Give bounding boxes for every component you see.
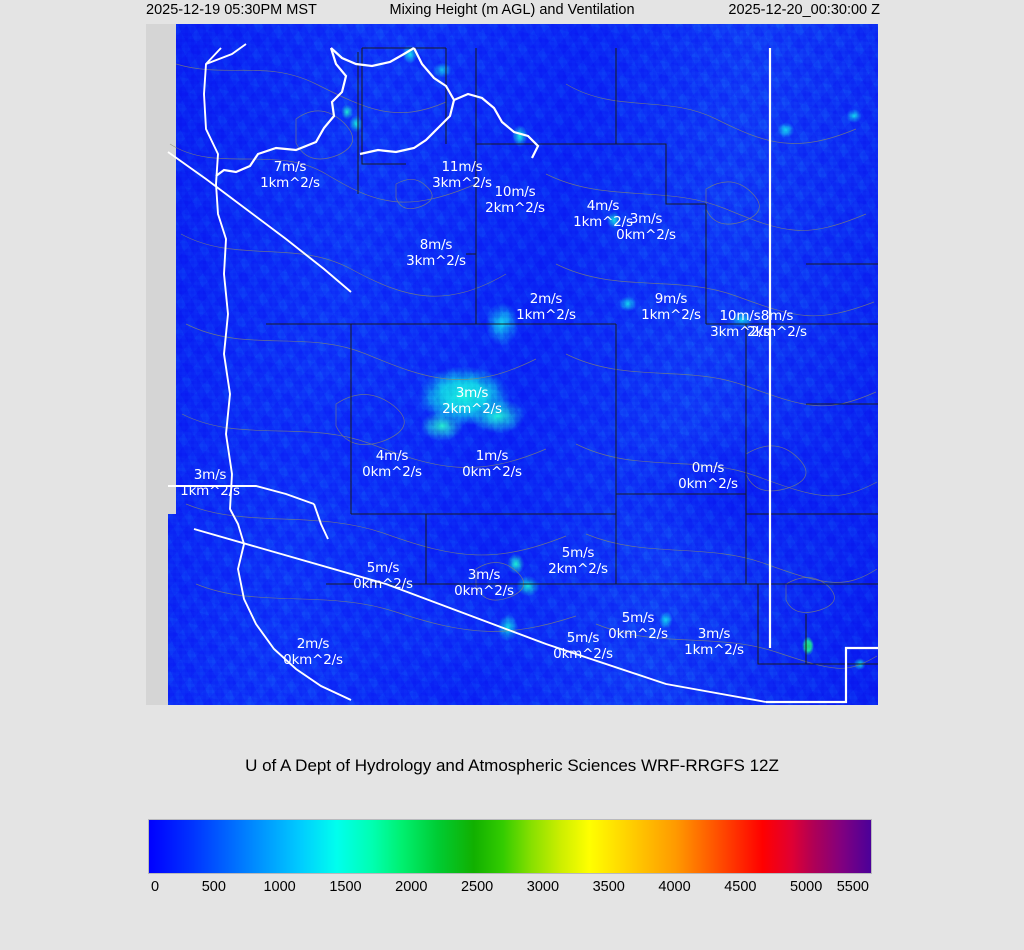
model-attribution: U of A Dept of Hydrology and Atmospheric… — [245, 756, 779, 776]
colorbar-tick: 3500 — [593, 879, 625, 895]
valid-time-utc: 2025-12-20_00:30:00 Z — [728, 0, 880, 20]
colorado-river — [216, 48, 538, 176]
border-outline — [766, 48, 878, 702]
state-border-and-rivers — [168, 44, 766, 702]
colorbar-tick-labels: 0500100015002000250030003500400045005000… — [148, 879, 872, 903]
header-bar: 2025-12-19 05:30PM MST Mixing Height (m … — [0, 0, 1024, 24]
mixing-height-map[interactable]: 7m/s1km^2/s11m/s3km^2/s10m/s2km^2/s8m/s3… — [146, 24, 878, 705]
county-borders — [266, 48, 878, 664]
map-vector-overlay — [146, 24, 878, 705]
colorbar-tick: 5500 — [837, 879, 869, 895]
valid-time-local: 2025-12-19 05:30PM MST — [146, 0, 317, 20]
colorbar-container[interactable]: 0500100015002000250030003500400045005000… — [148, 819, 872, 874]
colorbar-tick: 2000 — [395, 879, 427, 895]
mixing-height-colorbar[interactable] — [148, 819, 872, 874]
colorbar-tick: 1500 — [329, 879, 361, 895]
colorbar-tick: 1000 — [263, 879, 295, 895]
colorbar-tick: 4500 — [724, 879, 756, 895]
colorbar-tick: 2500 — [461, 879, 493, 895]
page-title: Mixing Height (m AGL) and Ventilation — [389, 0, 634, 20]
colorbar-tick: 3000 — [527, 879, 559, 895]
colorbar-tick: 5000 — [790, 879, 822, 895]
colorbar-tick: 4000 — [658, 879, 690, 895]
colorbar-tick: 0 — [151, 879, 159, 895]
colorbar-tick: 500 — [202, 879, 226, 895]
